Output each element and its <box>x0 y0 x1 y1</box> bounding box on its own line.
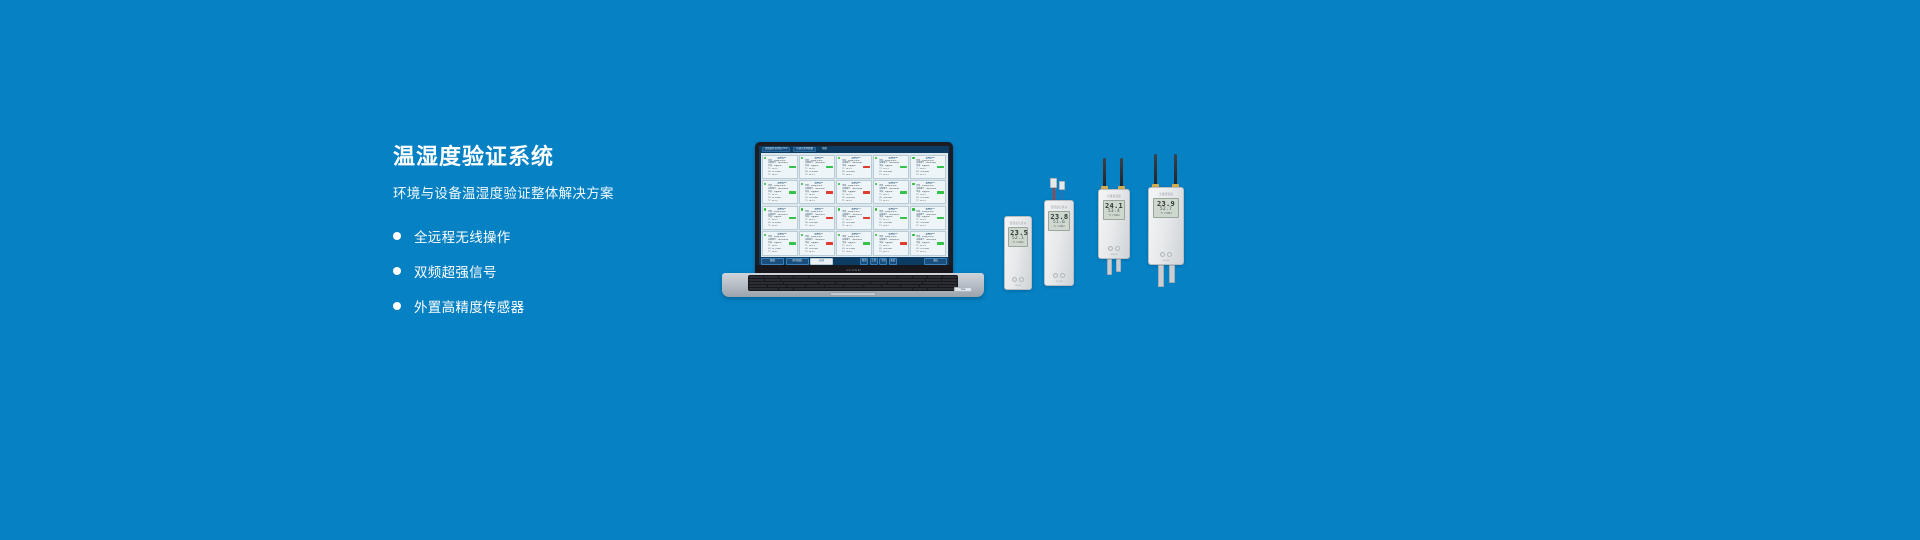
monitor-card-value: 24.5℃ <box>809 225 833 228</box>
device-model-label: TH-20 <box>1015 285 1021 287</box>
monitor-card-key: T2: <box>879 174 882 177</box>
monitor-card-value: 24.0℃ <box>846 174 870 177</box>
device-lcd: 23.9 52.7 ℃ / %RH <box>1153 198 1179 218</box>
monitor-card-key: T2: <box>805 200 808 203</box>
monitor-card-key: T2: <box>916 200 919 203</box>
monitor-card-row: T2:24.4℃ <box>842 200 870 203</box>
device-wireless-sensor-1: 无线温湿度 24.1 53.4 ℃ / %RH WS-50 <box>1098 186 1130 259</box>
keyboard-row <box>749 288 957 290</box>
monitor-card[interactable]: 监测点09温度:温湿度记录仪设备编号:TH2024009电量:电量充足T1:23… <box>873 180 909 204</box>
monitor-card-row: T2:23.7℃ <box>916 174 944 177</box>
hero-copy: 温湿度验证系统 环境与设备温湿度验证整体解决方案 全远程无线操作 双频超强信号 … <box>393 143 723 319</box>
status-led-icon <box>838 183 840 185</box>
keyboard-key[interactable] <box>794 288 809 290</box>
bullet-dot-icon <box>393 302 401 310</box>
device-key[interactable] <box>1115 246 1120 251</box>
monitor-card[interactable]: 监测点16温度:温湿度记录仪设备编号:TH2024016电量:电量充足T1:23… <box>762 231 798 255</box>
monitor-card-value: 24.4℃ <box>846 200 870 203</box>
external-probe <box>1169 265 1175 283</box>
device-wireless-sensor-2: 无线温湿度 23.9 52.7 ℃ / %RH WS-50 <box>1148 184 1184 265</box>
device-handheld-recorder-2: 温湿度记录仪 23.8 51.6 ℃ / %RH TH-30 <box>1044 200 1074 286</box>
device-handheld-recorder-1: 温湿度记录仪 23.5 52.1 ℃ / %RH TH-20 <box>1004 216 1032 290</box>
monitor-card-key: T2: <box>879 251 882 254</box>
monitor-card-value: 23.2℃ <box>772 200 796 203</box>
device-lcd: 23.5 52.1 ℃ / %RH <box>1008 227 1028 247</box>
list-item: 全远程无线操作 <box>393 223 723 249</box>
monitor-card-value: 23.1℃ <box>883 200 907 203</box>
status-led-icon <box>912 157 914 159</box>
monitor-card-value: 24.3℃ <box>809 251 833 254</box>
device-head-label: 温湿度记录仪 <box>1010 221 1027 225</box>
monitor-card-key: T2: <box>768 251 771 254</box>
device-lcd: 24.1 53.4 ℃ / %RH <box>1103 200 1126 220</box>
device-key[interactable] <box>1060 273 1065 278</box>
device-keypad[interactable] <box>1160 252 1172 257</box>
monitor-card-key: T2: <box>805 225 808 228</box>
status-led-icon <box>838 208 840 210</box>
monitor-card-value: 24.2℃ <box>809 200 833 203</box>
status-led-icon <box>912 208 914 210</box>
monitor-card[interactable]: 监测点04温度:温湿度记录仪设备编号:TH2024004电量:电量充足T1:23… <box>873 155 909 179</box>
monitor-card-key: T2: <box>916 251 919 254</box>
feature-label: 双频超强信号 <box>414 261 497 281</box>
status-led-icon <box>801 208 803 210</box>
probe-sensor-head <box>1050 178 1057 188</box>
device-keypad[interactable] <box>1012 277 1024 282</box>
monitor-card[interactable]: 监测点06温度:温湿度记录仪设备编号:TH2024006电量:电量充足T1:23… <box>762 180 798 204</box>
app-titlebar: 温湿度验证系统 V3.0 记录仪实时数据 帮助 <box>759 146 949 153</box>
bullet-dot-icon <box>393 232 401 240</box>
keyboard-key[interactable] <box>897 288 912 290</box>
monitor-card[interactable]: 监测点01温度:温湿度记录仪设备编号:TH2024001电量:电量充足T1:23… <box>762 155 798 179</box>
list-item: 外置高精度传感器 <box>393 293 723 319</box>
keyboard-key[interactable] <box>913 288 928 290</box>
status-led-icon <box>764 157 766 159</box>
tab-help[interactable]: 帮助 <box>819 147 830 153</box>
monitor-card[interactable]: 监测点15温度:温湿度记录仪设备编号:TH2024015电量:电量充足T1:23… <box>910 206 946 230</box>
monitor-card-value: 24.1℃ <box>883 251 907 254</box>
monitor-card[interactable]: 监测点18温度:温湿度记录仪设备编号:TH2024018电量:电量充足T1:23… <box>836 231 872 255</box>
device-model-label: TH-30 <box>1056 281 1062 283</box>
monitor-card-row: T2:24.1℃ <box>879 251 907 254</box>
monitor-card-value: 23.2℃ <box>920 251 944 254</box>
status-led-icon <box>801 183 803 185</box>
status-led-icon <box>801 157 803 159</box>
monitor-card-key: T2: <box>842 225 845 228</box>
monitor-card-key: T2: <box>916 225 919 228</box>
monitor-card-value: 23.3℃ <box>883 174 907 177</box>
keyboard-key[interactable] <box>779 288 794 290</box>
monitor-card-row: T2:23.8℃ <box>879 225 907 228</box>
antenna-icon <box>1154 154 1157 186</box>
monitor-card-grid: 监测点01温度:温湿度记录仪设备编号:TH2024001电量:电量充足T1:23… <box>761 153 948 257</box>
monitor-card-row: T2:24.2℃ <box>805 200 833 203</box>
external-probe <box>1116 259 1121 272</box>
feature-label: 外置高精度传感器 <box>414 296 524 316</box>
device-keypad[interactable] <box>1053 273 1065 278</box>
monitor-card-row: T2:24.1℃ <box>842 225 870 228</box>
device-key[interactable] <box>1160 252 1165 257</box>
monitor-card-key: T2: <box>916 174 919 177</box>
device-lcd-unit: ℃ / %RH <box>1010 242 1026 245</box>
monitor-card-value: 24.1℃ <box>846 225 870 228</box>
feature-label: 全远程无线操作 <box>414 226 511 246</box>
list-item: 双频超强信号 <box>393 258 723 284</box>
monitor-card-key: T2: <box>768 174 771 177</box>
sensor-device-group: 温湿度记录仪 23.5 52.1 ℃ / %RH TH-20 温湿度记录仪 <box>1000 178 1220 328</box>
monitor-card-value: 23.3℃ <box>772 251 796 254</box>
device-lcd-unit: ℃ / %RH <box>1050 226 1067 229</box>
status-led-icon <box>838 157 840 159</box>
monitor-card-row: T2:23.5℃ <box>805 174 833 177</box>
status-led-icon <box>875 183 877 185</box>
status-led-icon <box>875 157 877 159</box>
hero-banner: 温湿度验证系统 环境与设备温湿度验证整体解决方案 全远程无线操作 双频超强信号 … <box>0 0 1920 540</box>
external-probe <box>1107 259 1112 275</box>
status-led-icon <box>875 208 877 210</box>
device-head-label: 无线温湿度 <box>1107 194 1121 198</box>
device-head-label: 无线温湿度 <box>1159 192 1173 196</box>
monitor-card-value: 23.6℃ <box>846 251 870 254</box>
monitor-card-row: T2:23.3℃ <box>768 251 796 254</box>
monitor-card[interactable]: 监测点05温度:温湿度记录仪设备编号:TH2024005电量:电量充足T1:23… <box>910 155 946 179</box>
laptop-brand-label: HUAWEI <box>846 268 862 272</box>
monitor-card-row: T2:23.1℃ <box>879 200 907 203</box>
monitor-card[interactable]: 监测点08温度:温湿度记录仪设备编号:TH2024008电量:电量偏低T1:24… <box>836 180 872 204</box>
monitor-card-value: 23.5℃ <box>809 174 833 177</box>
monitor-card-row: T2:23.5℃ <box>916 200 944 203</box>
laptop-base <box>722 273 984 297</box>
device-keypad[interactable] <box>1108 246 1120 251</box>
monitor-card[interactable]: 监测点19温度:温湿度记录仪设备编号:TH2024019电量:电量偏低T1:24… <box>873 231 909 255</box>
page-title: 温湿度验证系统 <box>393 143 723 171</box>
monitor-card-key: T2: <box>842 251 845 254</box>
status-led-icon <box>764 208 766 210</box>
monitor-card-row: T2:23.6℃ <box>768 174 796 177</box>
device-model-label: WS-50 <box>1163 260 1170 262</box>
external-probe <box>1158 265 1164 287</box>
status-led-icon <box>764 234 766 236</box>
monitor-card-key: T2: <box>768 225 771 228</box>
monitor-card-row: T2:23.3℃ <box>879 174 907 177</box>
device-key[interactable] <box>1012 277 1017 282</box>
monitor-card-key: T2: <box>842 200 845 203</box>
keyboard-key[interactable] <box>809 288 897 290</box>
monitor-card-row: T2:24.5℃ <box>805 225 833 228</box>
monitor-card[interactable]: 监测点10温度:温湿度记录仪设备编号:TH2024010电量:电量充足T1:23… <box>910 180 946 204</box>
tab-system[interactable]: 温湿度验证系统 V3.0 <box>762 147 790 153</box>
laptop-trackpad[interactable] <box>830 292 876 296</box>
device-key[interactable] <box>1053 273 1058 278</box>
monitor-card-key: T2: <box>805 174 808 177</box>
bullet-dot-icon <box>393 267 401 275</box>
status-led-icon <box>838 234 840 236</box>
keyboard-key[interactable] <box>928 288 957 290</box>
monitor-card[interactable]: 监测点20温度:温湿度记录仪设备编号:TH2024020电量:电量充足T1:23… <box>910 231 946 255</box>
monitor-card[interactable]: 监测点17温度:温湿度记录仪设备编号:TH2024017电量:电量偏低T1:24… <box>799 231 835 255</box>
monitor-card-row: T2:23.2℃ <box>916 251 944 254</box>
laptop-lid: 温湿度验证系统 V3.0 记录仪实时数据 帮助 监测点01温度:温湿度记录仪设备… <box>755 142 953 275</box>
status-led-icon <box>801 234 803 236</box>
device-head-label: 温湿度记录仪 <box>1051 205 1068 209</box>
monitor-card-value: 23.9℃ <box>920 225 944 228</box>
monitor-card-row: T2:23.9℃ <box>916 225 944 228</box>
monitor-card-row: T2:23.4℃ <box>768 225 796 228</box>
monitor-card-key: T2: <box>842 174 845 177</box>
device-key[interactable] <box>1019 277 1024 282</box>
monitor-card-value: 23.7℃ <box>920 174 944 177</box>
monitor-card[interactable]: 监测点12温度:温湿度记录仪设备编号:TH2024012电量:电量偏低T1:24… <box>799 206 835 230</box>
monitor-card[interactable]: 监测点02温度:温湿度记录仪设备编号:TH2024002电量:电量充足T1:23… <box>799 155 835 179</box>
monitor-card-value: 23.5℃ <box>920 200 944 203</box>
tab-realtime-data[interactable]: 记录仪实时数据 <box>793 147 816 153</box>
monitor-card-row: T2:24.3℃ <box>805 251 833 254</box>
monitor-card-key: T2: <box>879 200 882 203</box>
status-led-icon <box>912 183 914 185</box>
monitor-card-key: T2: <box>768 200 771 203</box>
monitor-card-value: 23.8℃ <box>883 225 907 228</box>
laptop-sticker: Intel <box>954 287 972 292</box>
device-key[interactable] <box>1167 252 1172 257</box>
device-lcd: 23.8 51.6 ℃ / %RH <box>1048 211 1069 231</box>
monitor-card[interactable]: 监测点13温度:温湿度记录仪设备编号:TH2024013电量:电量偏低T1:24… <box>836 206 872 230</box>
monitor-card-key: T2: <box>879 225 882 228</box>
monitor-card[interactable]: 监测点07温度:温湿度记录仪设备编号:TH2024007电量:电量偏低T1:24… <box>799 180 835 204</box>
feature-list: 全远程无线操作 双频超强信号 外置高精度传感器 <box>393 223 723 319</box>
laptop-screen: 温湿度验证系统 V3.0 记录仪实时数据 帮助 监测点01温度:温湿度记录仪设备… <box>759 146 949 266</box>
page-subtitle: 环境与设备温湿度验证整体解决方案 <box>393 184 723 204</box>
monitor-card-row: T2:24.0℃ <box>842 174 870 177</box>
monitor-card-row: T2:23.6℃ <box>842 251 870 254</box>
status-led-icon <box>912 234 914 236</box>
status-led-icon <box>875 234 877 236</box>
antenna-icon <box>1120 158 1123 188</box>
monitor-card-value: 23.6℃ <box>772 174 796 177</box>
status-led-icon <box>764 183 766 185</box>
monitor-card[interactable]: 监测点11温度:温湿度记录仪设备编号:TH2024011电量:电量充足T1:23… <box>762 206 798 230</box>
antenna-icon <box>1174 154 1177 186</box>
probe-sensor-head <box>1059 181 1065 190</box>
laptop-keyboard[interactable] <box>748 275 958 291</box>
device-lcd-unit: ℃ / %RH <box>1105 215 1124 218</box>
device-key[interactable] <box>1108 246 1113 251</box>
monitor-card-key: T2: <box>805 251 808 254</box>
device-model-label: WS-50 <box>1111 254 1118 256</box>
monitor-card-value: 23.4℃ <box>772 225 796 228</box>
monitor-card-row: T2:23.2℃ <box>768 200 796 203</box>
laptop-product-image: 温湿度验证系统 V3.0 记录仪实时数据 帮助 监测点01温度:温湿度记录仪设备… <box>722 142 984 297</box>
keyboard-key[interactable] <box>749 288 778 290</box>
monitor-card[interactable]: 监测点03温度:温湿度记录仪设备编号:TH2024003电量:电量偏低T1:24… <box>836 155 872 179</box>
monitor-card[interactable]: 监测点14温度:温湿度记录仪设备编号:TH2024014电量:电量充足T1:23… <box>873 206 909 230</box>
device-lcd-unit: ℃ / %RH <box>1155 213 1177 216</box>
antenna-icon <box>1103 158 1106 188</box>
